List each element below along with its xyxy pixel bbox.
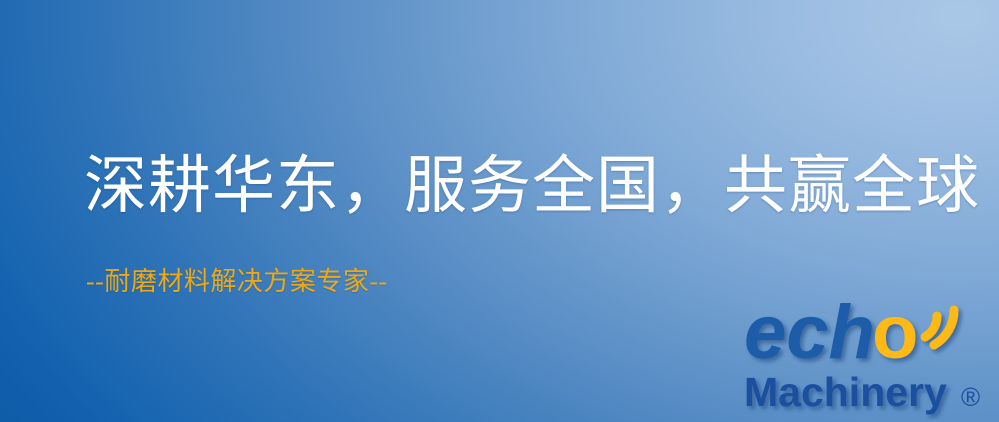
echo-machinery-logo: ech o Machinery ® <box>742 296 994 420</box>
logo-trademark-symbol: ® <box>961 382 980 412</box>
logo-tagline-machinery: Machinery <box>744 369 947 415</box>
logo-wordmark-echo: ech <box>744 296 875 375</box>
logo-wordmark-accent-o: o <box>872 296 918 375</box>
promo-banner: 深耕华东，服务全国，共赢全球 --耐磨材料解决方案专家-- ech o Mach… <box>0 0 999 422</box>
banner-subtitle: --耐磨材料解决方案专家-- <box>86 266 388 298</box>
banner-headline: 深耕华东，服务全国，共赢全球 <box>84 150 980 222</box>
signal-waves-icon <box>925 310 954 345</box>
